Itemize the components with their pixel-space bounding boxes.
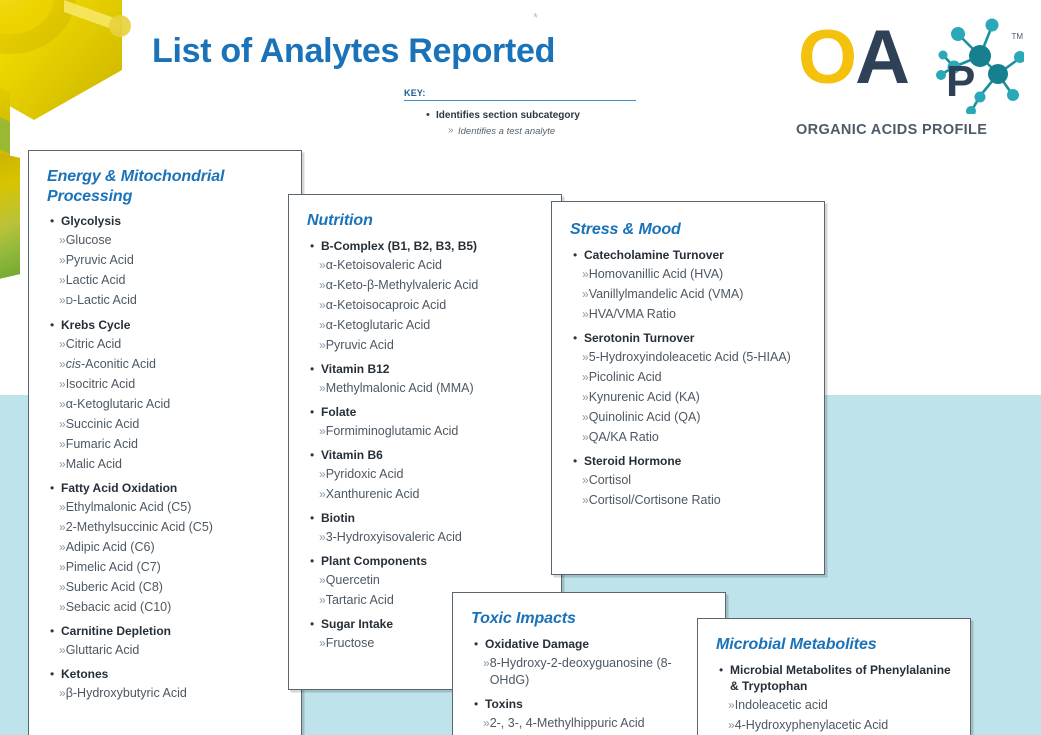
subcategory-row: •Oxidative Damage: [471, 636, 711, 652]
analyte-label: Homovanillic Acid (HVA): [589, 266, 724, 283]
key-label: KEY:: [404, 88, 636, 101]
chevron-double-right-icon: »: [47, 519, 66, 536]
analyte-label: 2-Methylsuccinic Acid (C5): [66, 519, 213, 536]
analyte-label: 4-Hydroxyphenylacetic Acid: [735, 717, 889, 734]
analyte-row: »4-Hydroxyphenylacetic Acid: [716, 717, 956, 734]
analyte-row: »Fumaric Acid: [47, 436, 287, 453]
analyte-row: »Pyruvic Acid: [307, 337, 547, 354]
analyte-list: •Oxidative Damage»8-Hydroxy-2-deoxyguano…: [471, 636, 711, 732]
analyte-label: Malic Acid: [66, 456, 122, 473]
analyte-label: β-Hydroxybutyric Acid: [66, 685, 187, 702]
subcategory-label: B-Complex (B1, B2, B3, B5): [321, 238, 477, 254]
subcategory-label: Biotin: [321, 510, 355, 526]
panel-title: Microbial Metabolites: [716, 635, 956, 655]
analyte-label: cis-Aconitic Acid: [66, 356, 156, 373]
hexagon-decoration-icon: [0, 0, 154, 158]
analyte-label: Pimelic Acid (C7): [66, 559, 161, 576]
analyte-row: »α-Keto-β-Methylvaleric Acid: [307, 277, 547, 294]
chevron-double-right-icon: »: [47, 232, 66, 249]
analyte-row: »α-Ketoglutaric Acid: [47, 396, 287, 413]
panel-title: Energy & Mitochondrial Processing: [47, 167, 247, 206]
analyte-row: »Suberic Acid (C8): [47, 579, 287, 596]
hexagon-strip-decoration-icon: [0, 150, 20, 282]
asterisk-mark: *: [533, 10, 538, 25]
analyte-label: α-Ketoglutaric Acid: [66, 396, 171, 413]
analyte-row: »Quercetin: [307, 572, 547, 589]
subcategory-row: •Ketones: [47, 666, 287, 682]
subcategory-label: Glycolysis: [61, 213, 121, 229]
chevron-double-right-icon: »: [448, 126, 458, 136]
logo-mark: OA P TM: [790, 18, 1025, 118]
chevron-double-right-icon: »: [47, 559, 66, 576]
chevron-double-right-icon: »: [47, 376, 66, 393]
bullet-icon: •: [570, 453, 584, 469]
subcategory-row: •Steroid Hormone: [570, 453, 810, 469]
subcategory-label: Plant Components: [321, 553, 427, 569]
chevron-double-right-icon: »: [307, 466, 326, 483]
bullet-icon: •: [307, 238, 321, 254]
bullet-icon: •: [47, 623, 61, 639]
analyte-label: Cortisol/Cortisone Ratio: [589, 492, 721, 509]
analyte-label: Quinolinic Acid (QA): [589, 409, 701, 426]
subcategory-label: Oxidative Damage: [485, 636, 589, 652]
key-legend: KEY: • Identifies section subcategory » …: [404, 88, 636, 137]
analyte-label: Picolinic Acid: [589, 369, 662, 386]
analyte-label: QA/KA Ratio: [589, 429, 659, 446]
analyte-label: Citric Acid: [66, 336, 122, 353]
chevron-double-right-icon: »: [47, 252, 66, 269]
analyte-label: Isocitric Acid: [66, 376, 135, 393]
analyte-label: Pyruvic Acid: [326, 337, 394, 354]
analyte-label: α-Ketoisovaleric Acid: [326, 257, 442, 274]
bullet-icon: •: [471, 696, 485, 712]
chevron-double-right-icon: »: [471, 655, 490, 672]
chevron-double-right-icon: »: [47, 642, 66, 659]
analyte-row: »HVA/VMA Ratio: [570, 306, 810, 323]
analyte-label: Suberic Acid (C8): [66, 579, 163, 596]
chevron-double-right-icon: »: [307, 337, 326, 354]
chevron-double-right-icon: »: [47, 579, 66, 596]
analyte-row: »2-Methylsuccinic Acid (C5): [47, 519, 287, 536]
panel-microbial-metabolites: Microbial Metabolites•Microbial Metaboli…: [697, 618, 971, 735]
subcategory-row: •Catecholamine Turnover: [570, 247, 810, 263]
bullet-icon: •: [47, 317, 61, 333]
subcategory-label: Vitamin B6: [321, 447, 383, 463]
analyte-row: »3-Hydroxyisovaleric Acid: [307, 529, 547, 546]
analyte-label: 2-, 3-, 4-Methylhippuric Acid: [490, 715, 645, 732]
analyte-row: »Citric Acid: [47, 336, 287, 353]
subcategory-row: •Fatty Acid Oxidation: [47, 480, 287, 496]
analyte-label: Adipic Acid (C6): [66, 539, 155, 556]
chevron-double-right-icon: »: [307, 297, 326, 314]
key-legend-row-subcategory: • Identifies section subcategory: [404, 110, 636, 121]
analyte-list: •Glycolysis»Glucose»Pyruvic Acid»Lactic …: [47, 213, 287, 702]
analyte-row: »2-, 3-, 4-Methylhippuric Acid: [471, 715, 711, 732]
subcategory-row: •Glycolysis: [47, 213, 287, 229]
analyte-row: »Kynurenic Acid (KA): [570, 389, 810, 406]
subcategory-label: Folate: [321, 404, 356, 420]
chevron-double-right-icon: »: [47, 336, 66, 353]
chevron-double-right-icon: »: [570, 492, 589, 509]
analyte-row: »Quinolinic Acid (QA): [570, 409, 810, 426]
bullet-icon: •: [570, 330, 584, 346]
chevron-double-right-icon: »: [307, 635, 326, 652]
chevron-double-right-icon: »: [570, 429, 589, 446]
panel-toxic-impacts: Toxic Impacts•Oxidative Damage»8-Hydroxy…: [452, 592, 726, 735]
analyte-row: »Picolinic Acid: [570, 369, 810, 386]
bullet-icon: •: [47, 213, 61, 229]
analyte-label: HVA/VMA Ratio: [589, 306, 676, 323]
chevron-double-right-icon: »: [307, 257, 326, 274]
analyte-label: Quercetin: [326, 572, 380, 589]
logo-letter-p: P: [946, 60, 975, 104]
analyte-label: Succinic Acid: [66, 416, 140, 433]
chevron-double-right-icon: »: [47, 685, 66, 702]
key-legend-analyte-text: Identifies a test analyte: [458, 126, 555, 137]
subcategory-label: Toxins: [485, 696, 523, 712]
logo-letter-o: O: [798, 15, 855, 100]
analyte-label: α-Ketoglutaric Acid: [326, 317, 431, 334]
chevron-double-right-icon: »: [570, 286, 589, 303]
bullet-icon: •: [471, 636, 485, 652]
chevron-double-right-icon: »: [307, 572, 326, 589]
analyte-label: Tartaric Acid: [326, 592, 394, 609]
analyte-row: »Gluttaric Acid: [47, 642, 287, 659]
subcategory-row: •Biotin: [307, 510, 547, 526]
subcategory-row: •Carnitine Depletion: [47, 623, 287, 639]
bullet-icon: •: [307, 361, 321, 377]
chevron-double-right-icon: »: [47, 499, 66, 516]
analyte-label: Cortisol: [589, 472, 631, 489]
analyte-label: Indoleacetic acid: [735, 697, 828, 714]
analyte-label: Glucose: [66, 232, 112, 249]
analyte-row: »Adipic Acid (C6): [47, 539, 287, 556]
chevron-double-right-icon: »: [570, 389, 589, 406]
chevron-double-right-icon: »: [570, 369, 589, 386]
analyte-label: α-Ketoisocaproic Acid: [326, 297, 446, 314]
subcategory-row: •Microbial Metabolites of Phenylalanine …: [716, 662, 956, 694]
subcategory-row: •Vitamin B12: [307, 361, 547, 377]
bullet-icon: •: [716, 662, 730, 678]
analyte-row: »Homovanillic Acid (HVA): [570, 266, 810, 283]
analyte-label: Fumaric Acid: [66, 436, 138, 453]
chevron-double-right-icon: »: [307, 423, 326, 440]
chevron-double-right-icon: »: [716, 697, 735, 714]
chevron-double-right-icon: »: [47, 416, 66, 433]
analyte-row: »Ethylmalonic Acid (C5): [47, 499, 287, 516]
analyte-label: Pyruvic Acid: [66, 252, 134, 269]
bullet-icon: •: [307, 510, 321, 526]
panel-title: Nutrition: [307, 211, 547, 231]
analyte-list: •Microbial Metabolites of Phenylalanine …: [716, 662, 956, 734]
bullet-icon: •: [47, 480, 61, 496]
subcategory-label: Steroid Hormone: [584, 453, 681, 469]
panel-energy-mitochondrial-processing: Energy & Mitochondrial Processing•Glycol…: [28, 150, 302, 735]
subcategory-label: Ketones: [61, 666, 108, 682]
analyte-label: 8-Hydroxy-2-deoxyguanosine (8-OHdG): [490, 655, 711, 689]
subcategory-row: •Toxins: [471, 696, 711, 712]
subcategory-row: •Serotonin Turnover: [570, 330, 810, 346]
analyte-row: »Methylmalonic Acid (MMA): [307, 380, 547, 397]
analyte-row: »Formiminoglutamic Acid: [307, 423, 547, 440]
subcategory-row: •Folate: [307, 404, 547, 420]
analyte-row: »QA/KA Ratio: [570, 429, 810, 446]
analyte-label: 3-Hydroxyisovaleric Acid: [326, 529, 462, 546]
chevron-double-right-icon: »: [47, 539, 66, 556]
analyte-row: »Vanillylmandelic Acid (VMA): [570, 286, 810, 303]
analyte-row: »8-Hydroxy-2-deoxyguanosine (8-OHdG): [471, 655, 711, 689]
analyte-row: »α-Ketoisocaproic Acid: [307, 297, 547, 314]
analyte-label: Xanthurenic Acid: [326, 486, 420, 503]
panel-stress-mood: Stress & Mood•Catecholamine Turnover»Hom…: [551, 201, 825, 575]
analyte-label: Pyridoxic Acid: [326, 466, 404, 483]
subcategory-label: Catecholamine Turnover: [584, 247, 724, 263]
bullet-icon: •: [570, 247, 584, 263]
analyte-row: »Lactic Acid: [47, 272, 287, 289]
chevron-double-right-icon: »: [47, 396, 66, 413]
chevron-double-right-icon: »: [47, 436, 66, 453]
chevron-double-right-icon: »: [47, 356, 66, 373]
page-title: List of Analytes Reported: [152, 32, 672, 71]
analyte-row: »Succinic Acid: [47, 416, 287, 433]
chevron-double-right-icon: »: [716, 717, 735, 734]
bullet-icon: •: [307, 404, 321, 420]
subcategory-label: Serotonin Turnover: [584, 330, 694, 346]
analyte-list: •B-Complex (B1, B2, B3, B5)»α-Ketoisoval…: [307, 238, 547, 652]
analyte-row: »Pyridoxic Acid: [307, 466, 547, 483]
analyte-row: »Glucose: [47, 232, 287, 249]
subcategory-label: Vitamin B12: [321, 361, 389, 377]
analyte-row: »Cortisol: [570, 472, 810, 489]
bullet-icon: •: [47, 666, 61, 682]
logo-letters-oa: OA: [798, 20, 908, 96]
molecule-icon: [928, 12, 1024, 114]
analyte-label: Sebacic acid (C10): [66, 599, 172, 616]
logo-subtitle: ORGANIC ACIDS PROFILE: [796, 122, 987, 138]
chevron-double-right-icon: »: [570, 349, 589, 366]
analyte-row: »Pimelic Acid (C7): [47, 559, 287, 576]
analyte-row: »Indoleacetic acid: [716, 697, 956, 714]
analyte-label: Methylmalonic Acid (MMA): [326, 380, 474, 397]
logo-letter-a: A: [855, 15, 908, 100]
chevron-double-right-icon: »: [47, 292, 66, 309]
analyte-row: »Sebacic acid (C10): [47, 599, 287, 616]
chevron-double-right-icon: »: [47, 456, 66, 473]
subcategory-label: Sugar Intake: [321, 616, 393, 632]
analyte-row: »Pyruvic Acid: [47, 252, 287, 269]
subcategory-row: •Krebs Cycle: [47, 317, 287, 333]
analyte-label: 5-Hydroxyindoleacetic Acid (5-HIAA): [589, 349, 791, 366]
bullet-icon: •: [307, 553, 321, 569]
subcategory-label: Fatty Acid Oxidation: [61, 480, 177, 496]
analyte-label: d-Lactic Acid: [66, 292, 137, 310]
analyte-label: Gluttaric Acid: [66, 642, 140, 659]
analyte-row: »Malic Acid: [47, 456, 287, 473]
chevron-double-right-icon: »: [47, 272, 66, 289]
analyte-row: »cis-Aconitic Acid: [47, 356, 287, 373]
subcategory-label: Microbial Metabolites of Phenylalanine &…: [730, 662, 956, 694]
analyte-label: Vanillylmandelic Acid (VMA): [589, 286, 744, 303]
analyte-row: »5-Hydroxyindoleacetic Acid (5-HIAA): [570, 349, 810, 366]
analyte-label: α-Keto-β-Methylvaleric Acid: [326, 277, 479, 294]
analyte-label: Formiminoglutamic Acid: [326, 423, 459, 440]
key-legend-row-analyte: » Identifies a test analyte: [404, 126, 636, 137]
analyte-label: Fructose: [326, 635, 375, 652]
subcategory-label: Krebs Cycle: [61, 317, 130, 333]
chevron-double-right-icon: »: [47, 599, 66, 616]
chevron-double-right-icon: »: [307, 317, 326, 334]
analyte-label: Ethylmalonic Acid (C5): [66, 499, 192, 516]
panel-title: Toxic Impacts: [471, 609, 711, 629]
panel-title: Stress & Mood: [570, 220, 810, 240]
subcategory-label: Carnitine Depletion: [61, 623, 171, 639]
analyte-row: »α-Ketoglutaric Acid: [307, 317, 547, 334]
analyte-row: »β-Hydroxybutyric Acid: [47, 685, 287, 702]
analyte-row: »d-Lactic Acid: [47, 292, 287, 310]
analyte-row: »Cortisol/Cortisone Ratio: [570, 492, 810, 509]
trademark-icon: TM: [1011, 32, 1023, 41]
analyte-row: »Isocitric Acid: [47, 376, 287, 393]
chevron-double-right-icon: »: [307, 277, 326, 294]
subcategory-row: •Plant Components: [307, 553, 547, 569]
analyte-row: »α-Ketoisovaleric Acid: [307, 257, 547, 274]
chevron-double-right-icon: »: [570, 306, 589, 323]
chevron-double-right-icon: »: [307, 380, 326, 397]
chevron-double-right-icon: »: [570, 409, 589, 426]
chevron-double-right-icon: »: [471, 715, 490, 732]
analyte-list: •Catecholamine Turnover»Homovanillic Aci…: [570, 247, 810, 509]
chevron-double-right-icon: »: [307, 529, 326, 546]
bullet-icon: •: [307, 447, 321, 463]
oap-logo: OA P TM ORGANIC ACIDS PROFILE: [790, 18, 1025, 148]
chevron-double-right-icon: »: [307, 592, 326, 609]
subcategory-row: •B-Complex (B1, B2, B3, B5): [307, 238, 547, 254]
analyte-row: »Xanthurenic Acid: [307, 486, 547, 503]
analyte-label: Kynurenic Acid (KA): [589, 389, 700, 406]
chevron-double-right-icon: »: [307, 486, 326, 503]
chevron-double-right-icon: »: [570, 266, 589, 283]
bullet-icon: •: [426, 110, 436, 121]
subcategory-row: •Vitamin B6: [307, 447, 547, 463]
chevron-double-right-icon: »: [570, 472, 589, 489]
bullet-icon: •: [307, 616, 321, 632]
analyte-label: Lactic Acid: [66, 272, 126, 289]
key-legend-subcategory-text: Identifies section subcategory: [436, 110, 580, 121]
